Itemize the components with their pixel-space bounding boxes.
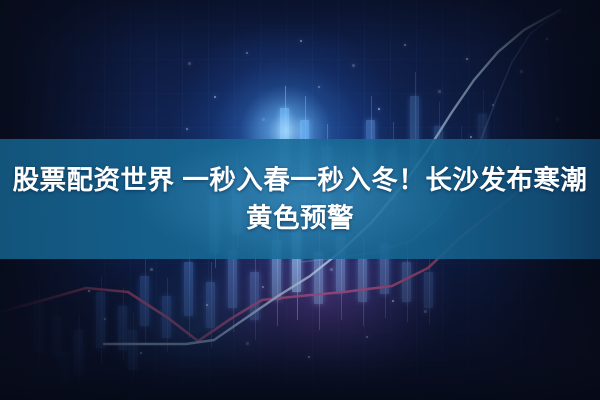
news-thumbnail-image: 股票配资世界 一秒入春一秒入冬！长沙发布寒潮 黄色预警: [0, 0, 600, 400]
headline-line-2: 黄色预警: [246, 201, 354, 235]
headline-line-1: 股票配资世界 一秒入春一秒入冬！长沙发布寒潮: [13, 163, 588, 197]
headline-text-block: 股票配资世界 一秒入春一秒入冬！长沙发布寒潮 黄色预警: [0, 139, 600, 259]
